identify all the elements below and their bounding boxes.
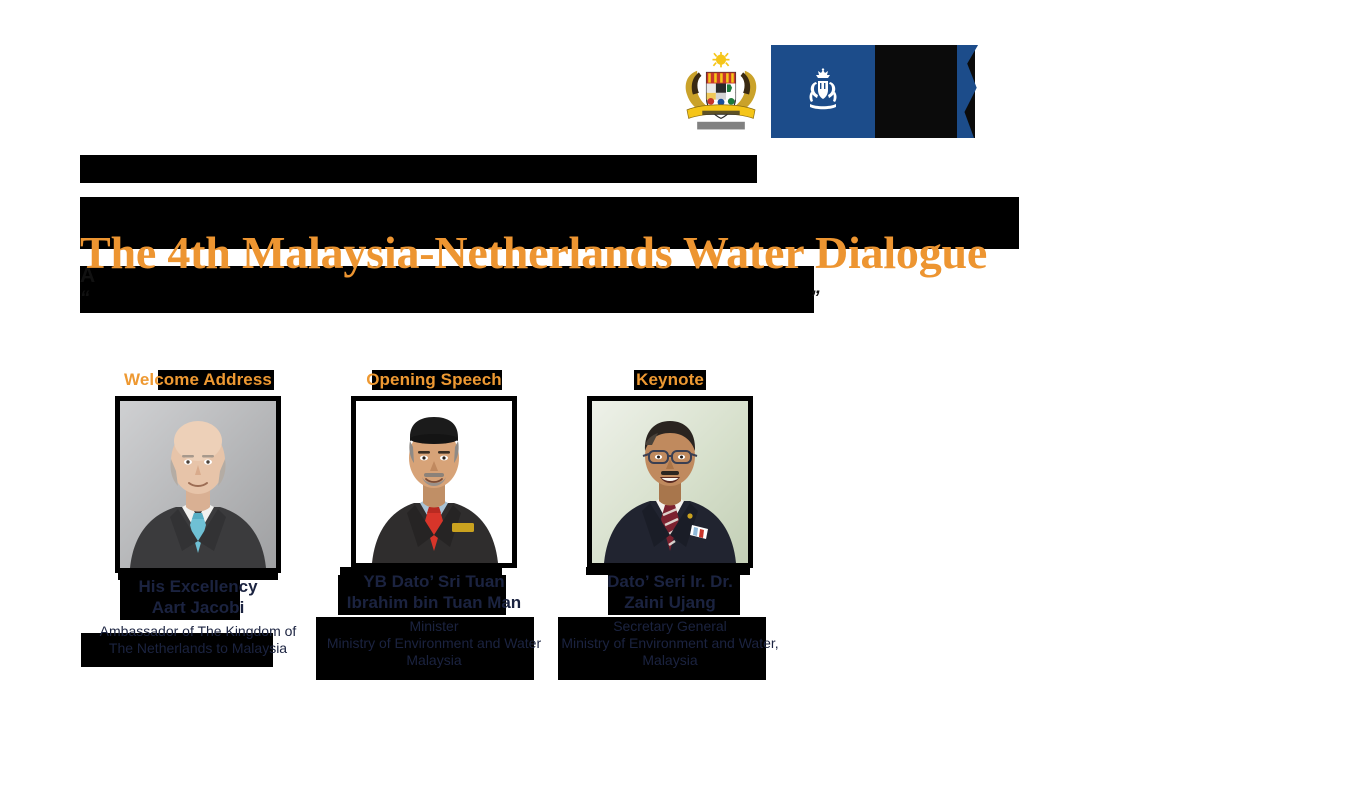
speaker-role-wrap: Welcome Address <box>80 368 316 394</box>
portrait-zaini-ujang <box>592 401 748 563</box>
portrait-aart-jacobi <box>120 401 276 568</box>
logo-strip <box>671 45 975 138</box>
speaker-org: Minister Ministry of Environment and Wat… <box>316 618 552 669</box>
speaker-card: Opening Speech <box>316 368 552 680</box>
speaker-name-wrap: Dato’ Seri Ir. Dr. Zaini Ujang <box>552 571 788 615</box>
speaker-org: Ambassador of The Kingdom of The Netherl… <box>80 623 316 657</box>
speaker-role: Opening Speech <box>316 368 552 392</box>
subtitle-closing-quote: ” <box>810 288 820 310</box>
subtitle-line-2: “ <box>80 288 90 310</box>
speaker-name: His Excellency Aart Jacobi <box>80 576 316 618</box>
netherlands-government-logo <box>771 45 875 138</box>
speaker-list: Welcome Address <box>80 368 780 688</box>
speaker-org-wrap: Secretary General Ministry of Environmen… <box>552 618 788 680</box>
speaker-photo-frame <box>587 396 753 568</box>
redaction-eyebrow <box>80 155 757 183</box>
speaker-card: Keynote <box>552 368 788 680</box>
speaker-role: Keynote <box>552 368 788 392</box>
poster-canvas: The 4th Malaysia-Netherlands Water Dialo… <box>0 0 1352 800</box>
speaker-card: Welcome Address <box>80 368 316 685</box>
malaysia-coat-of-arms <box>671 45 771 138</box>
page-title: The 4th Malaysia-Netherlands Water Dialo… <box>80 224 1080 284</box>
speaker-photo-frame <box>351 396 517 568</box>
speaker-role-wrap: Keynote <box>552 368 788 394</box>
speaker-photo-frame <box>115 396 281 573</box>
speaker-role-wrap: Opening Speech <box>316 368 552 394</box>
redacted-logo <box>875 45 975 138</box>
speaker-name-wrap: YB Dato’ Sri Tuan Ibrahim bin Tuan Man <box>316 571 552 615</box>
speaker-name: Dato’ Seri Ir. Dr. Zaini Ujang <box>552 571 788 613</box>
speaker-org: Secretary General Ministry of Environmen… <box>552 618 788 669</box>
speaker-role: Welcome Address <box>80 368 316 392</box>
speaker-name: YB Dato’ Sri Tuan Ibrahim bin Tuan Man <box>316 571 552 613</box>
speaker-org-wrap: Ambassador of The Kingdom of The Netherl… <box>80 623 316 685</box>
speaker-org-wrap: Minister Ministry of Environment and Wat… <box>316 618 552 680</box>
portrait-tuan-ibrahim-bin-tuan-man <box>356 401 512 563</box>
speaker-name-wrap: His Excellency Aart Jacobi <box>80 576 316 620</box>
